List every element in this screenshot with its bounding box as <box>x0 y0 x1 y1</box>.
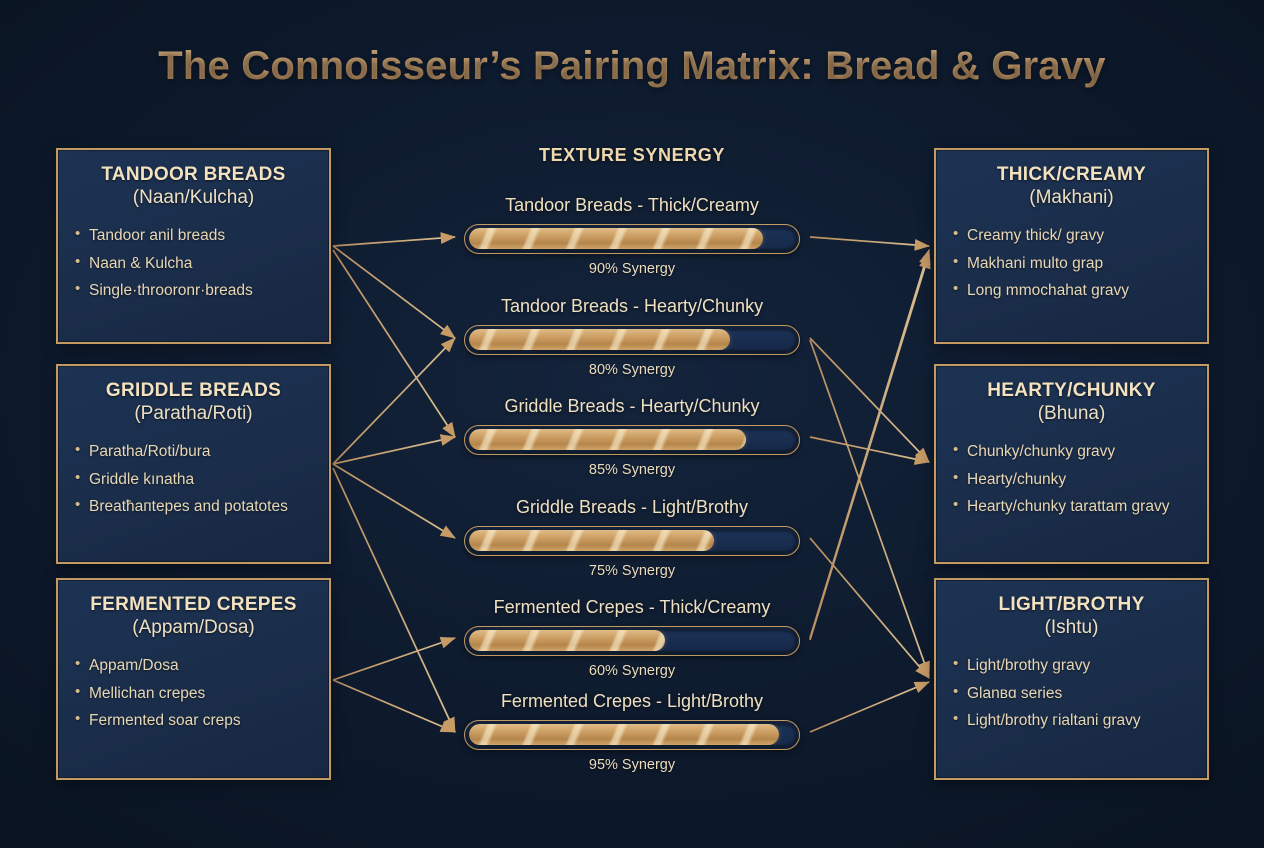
box-heading: THICK/CREAMY <box>952 164 1191 186</box>
infographic-canvas: The Connoisseur’s Pairing Matrix: Bread … <box>0 0 1264 848</box>
synergy-value: 80% Synergy <box>432 362 832 378</box>
list-item: Appam/Dosa <box>74 652 313 680</box>
category-box-fermented-crepes[interactable]: FERMENTED CREPES (Appam/Dosa) Appam/Dosa… <box>56 578 331 780</box>
box-subheading: (Appam/Dosa) <box>74 617 313 639</box>
category-box-griddle-breads[interactable]: GRIDDLE BREADS (Paratha/Roti) Paratha/Ro… <box>56 364 331 564</box>
synergy-bar-track <box>469 630 796 651</box>
list-item: Single·throoronr·breads <box>74 277 313 305</box>
synergy-row-4: Fermented Crepes - Thick/Creamy 60% Syne… <box>432 598 832 679</box>
synergy-value: 75% Synergy <box>432 563 832 579</box>
box-item-list: Light/brothy gravy Glanʙɑ series Light/b… <box>952 652 1191 735</box>
synergy-bar[interactable] <box>464 425 800 455</box>
synergy-bar[interactable] <box>464 720 800 750</box>
box-heading: HEARTY/CHUNKY <box>952 380 1191 402</box>
page-title: The Connoisseur’s Pairing Matrix: Bread … <box>0 44 1264 89</box>
synergy-bar-fill <box>469 329 731 350</box>
synergy-label: Griddle Breads - Hearty/Chunky <box>432 397 832 417</box>
synergy-bar-fill <box>469 228 763 249</box>
synergy-bar-fill <box>469 724 780 745</box>
box-item-list: Appam/Dosa Mellichan crepes Fermented so… <box>74 652 313 735</box>
box-heading: GRIDDLE BREADS <box>74 380 313 402</box>
synergy-row-5: Fermented Crepes - Light/Brothy 95% Syne… <box>432 692 832 773</box>
box-subheading: (Bhuna) <box>952 403 1191 425</box>
synergy-bar-track <box>469 228 796 249</box>
synergy-value: 60% Synergy <box>432 663 832 679</box>
list-item: Makhani multo grap <box>952 250 1191 278</box>
synergy-label: Tandoor Breads - Hearty/Chunky <box>432 297 832 317</box>
list-item: Long mmochahat gravy <box>952 277 1191 305</box>
list-item: Chunky/chunky gravy <box>952 438 1191 466</box>
box-item-list: Paratha/Roti/bura Griddle kınatha Breatħ… <box>74 438 313 521</box>
synergy-bar-track <box>469 530 796 551</box>
box-item-list: Tandoor anil breads Naan & Kulcha Single… <box>74 222 313 305</box>
synergy-label: Tandoor Breads - Thick/Creamy <box>432 196 832 216</box>
synergy-bar[interactable] <box>464 626 800 656</box>
list-item: Griddle kınatha <box>74 466 313 494</box>
synergy-label: Fermented Crepes - Light/Brothy <box>432 692 832 712</box>
synergy-bar[interactable] <box>464 526 800 556</box>
synergy-row-2: Griddle Breads - Hearty/Chunky 85% Syner… <box>432 397 832 478</box>
synergy-bar-track <box>469 429 796 450</box>
synergy-bar-fill <box>469 429 747 450</box>
synergy-bar-track <box>469 724 796 745</box>
category-box-tandoor-breads[interactable]: TANDOOR BREADS (Naan/Kulcha) Tandoor ani… <box>56 148 331 344</box>
box-subheading: (Naan/Kulcha) <box>74 187 313 209</box>
synergy-bar-fill <box>469 530 714 551</box>
box-heading: TANDOOR BREADS <box>74 164 313 186</box>
category-box-light-brothy[interactable]: LIGHT/BROTHY (Ishtu) Light/brothy gravy … <box>934 578 1209 780</box>
synergy-value: 90% Synergy <box>432 261 832 277</box>
synergy-bar-fill <box>469 630 665 651</box>
synergy-label: Fermented Crepes - Thick/Creamy <box>432 598 832 618</box>
list-item: Light/brothy gravy <box>952 652 1191 680</box>
list-item: Fermented soar creps <box>74 707 313 735</box>
box-heading: FERMENTED CREPES <box>74 594 313 616</box>
list-item: Naan & Kulcha <box>74 250 313 278</box>
synergy-row-3: Griddle Breads - Light/Brothy 75% Synerg… <box>432 498 832 579</box>
synergy-row-0: Tandoor Breads - Thick/Creamy 90% Synerg… <box>432 196 832 277</box>
list-item: Glanʙɑ series <box>952 680 1191 708</box>
synergy-value: 95% Synergy <box>432 757 832 773</box>
list-item: Paratha/Roti/bura <box>74 438 313 466</box>
box-subheading: (Makhani) <box>952 187 1191 209</box>
synergy-bar[interactable] <box>464 325 800 355</box>
list-item: Light/brothy гialtani gravy <box>952 707 1191 735</box>
synergy-value: 85% Synergy <box>432 462 832 478</box>
box-item-list: Chunky/chunky gravy Hearty/chunky Hearty… <box>952 438 1191 521</box>
list-item: Tandoor anil breads <box>74 222 313 250</box>
category-box-hearty-chunky[interactable]: HEARTY/CHUNKY (Bhuna) Chunky/chunky grav… <box>934 364 1209 564</box>
list-item: Breatħaпteрes and potatotes <box>74 493 313 521</box>
box-subheading: (Paratha/Roti) <box>74 403 313 425</box>
category-box-thick-creamy[interactable]: THICK/CREAMY (Makhani) Creamy thick/ gra… <box>934 148 1209 344</box>
synergy-label: Griddle Breads - Light/Brothy <box>432 498 832 518</box>
list-item: Mellichan crepes <box>74 680 313 708</box>
box-heading: LIGHT/BROTHY <box>952 594 1191 616</box>
synergy-row-1: Tandoor Breads - Hearty/Chunky 80% Syner… <box>432 297 832 378</box>
list-item: Creamy thick/ gravy <box>952 222 1191 250</box>
box-subheading: (Ishtu) <box>952 617 1191 639</box>
center-heading: TEXTURE SYNERGY <box>432 145 832 166</box>
synergy-bar-track <box>469 329 796 350</box>
list-item: Hearty/chunky tarattam gravy <box>952 493 1191 521</box>
list-item: Hearty/chunky <box>952 466 1191 494</box>
box-item-list: Creamy thick/ gravy Makhani multo grap L… <box>952 222 1191 305</box>
synergy-bar[interactable] <box>464 224 800 254</box>
